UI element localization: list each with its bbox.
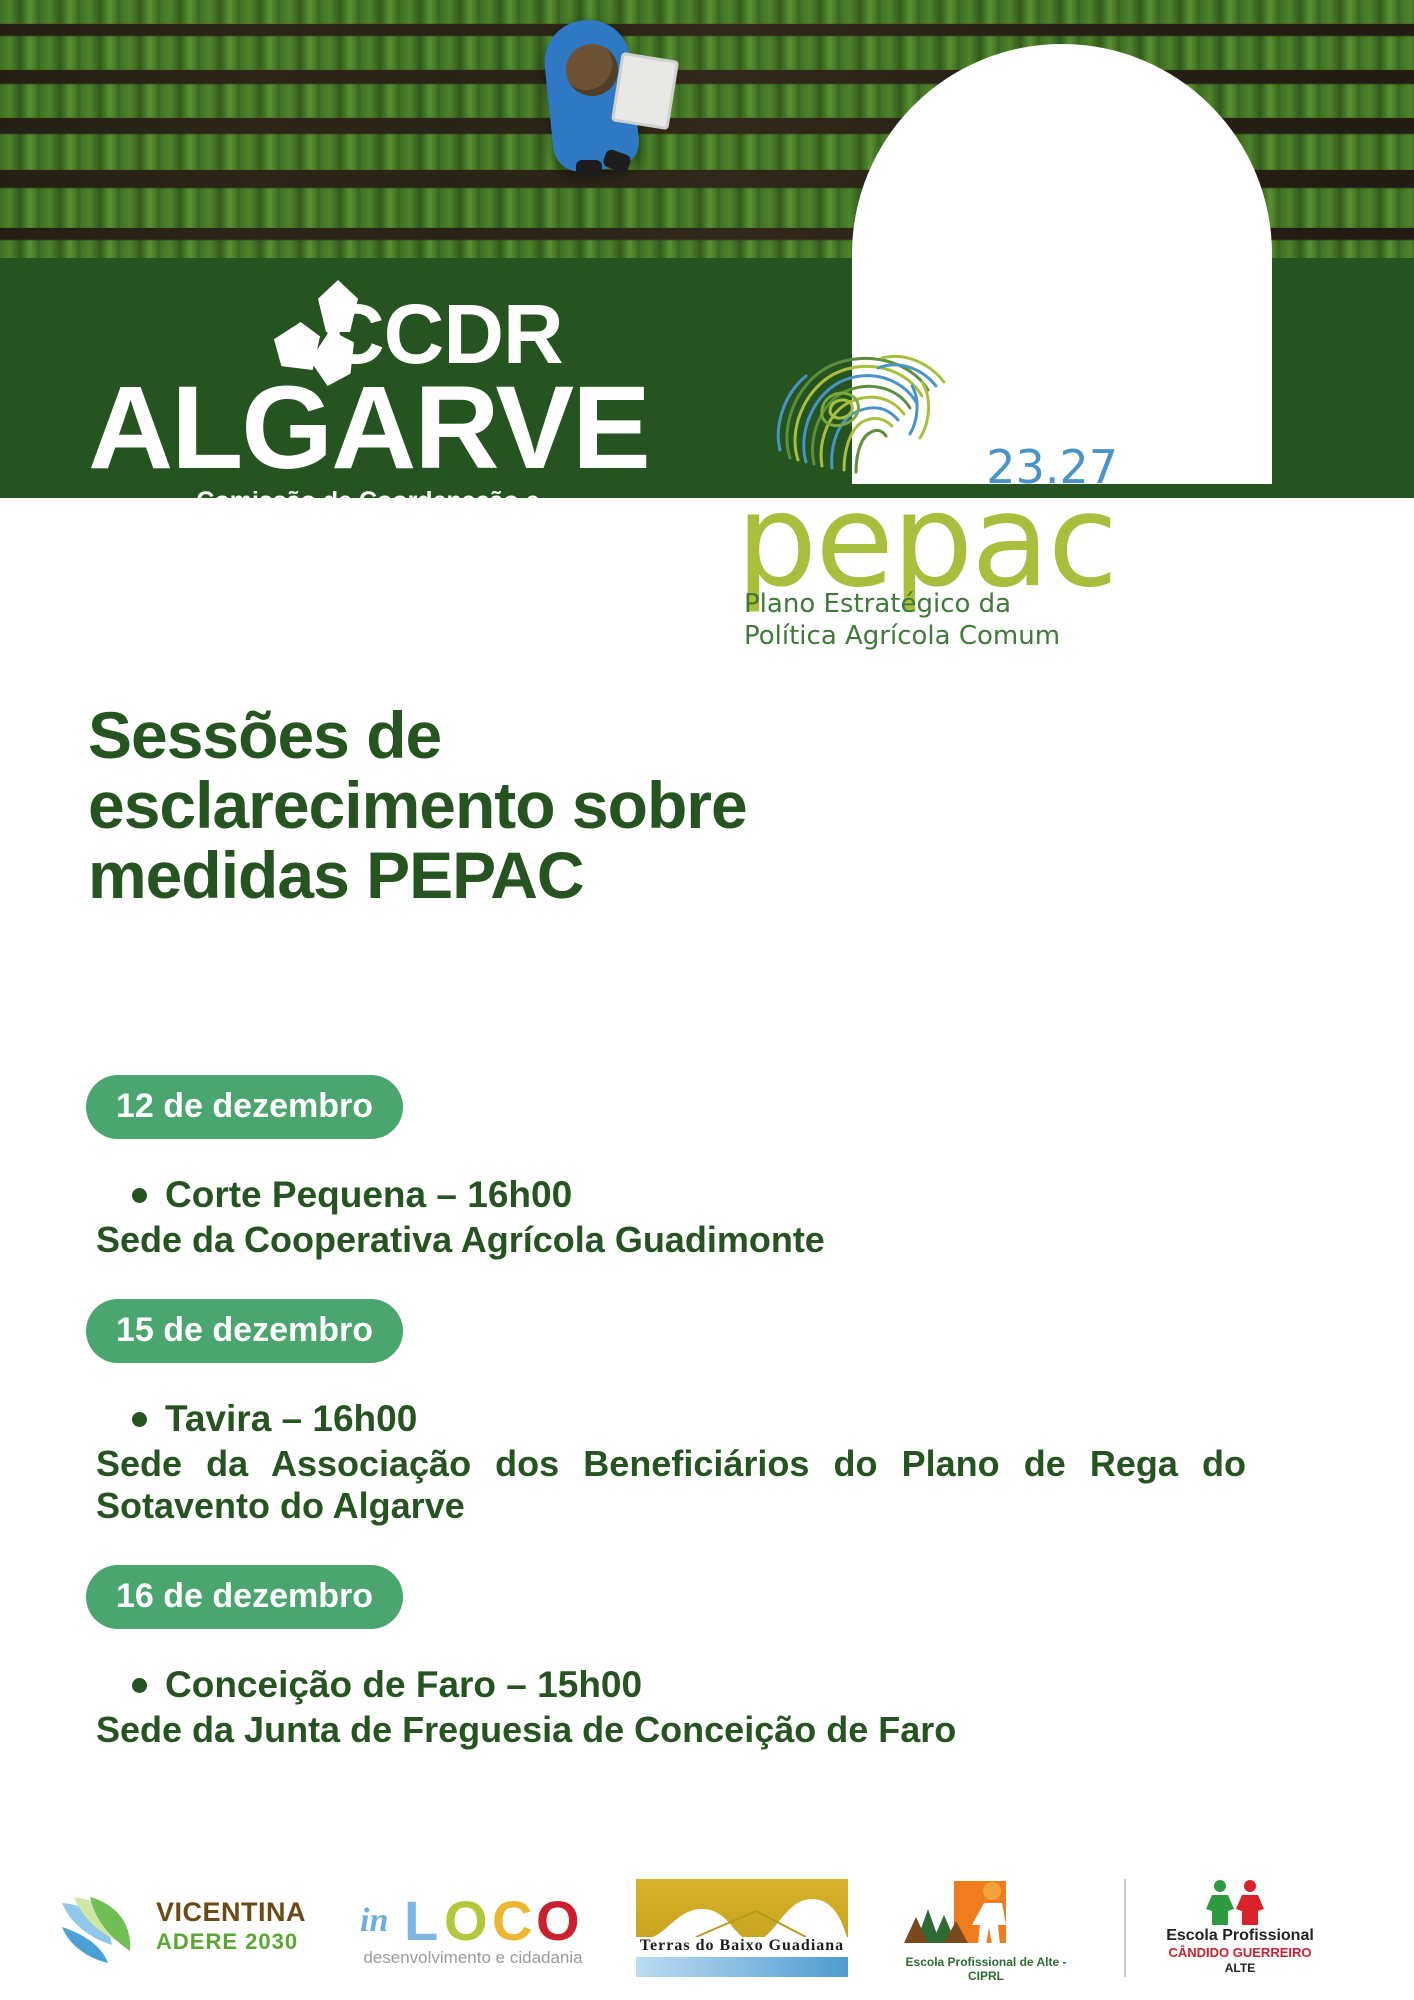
vicentina-sub: ADERE 2030 [156, 1929, 298, 1955]
alte-sub: Escola Profissional de Alte - CIPRL [896, 1955, 1076, 1983]
ccdr-subtitle: Comissão de Coordenação e Desenvolviment… [88, 486, 648, 546]
inloco-l: L [404, 1888, 438, 1953]
page-title: Sessões de esclarecimento sobre medidas … [88, 700, 868, 910]
pepac-wordmark: pepac [736, 478, 1116, 606]
event-title: Tavira – 16h00 [165, 1399, 417, 1439]
logo-in-loco: in L O C O desenvolvimento e cidadania [358, 1882, 588, 1974]
events-list: 12 de dezembro Corte Pequena – 16h00 Sed… [86, 1075, 1326, 1781]
tablet-icon [611, 52, 679, 130]
inloco-c: C [492, 1888, 532, 1953]
event-place: Sede da Cooperativa Agrícola Guadimonte [96, 1219, 1236, 1261]
logo-escola-alte: Escola Profissional de Alte - CIPRL [896, 1879, 1076, 1977]
alte-trees-walker-icon [896, 1879, 1076, 1957]
ccdr-acronym: CCDR [324, 292, 563, 376]
event-date-badge: 15 de dezembro [86, 1299, 403, 1363]
event-item: 16 de dezembro Conceição de Faro – 15h00… [86, 1565, 1326, 1751]
bullet-icon [132, 1188, 147, 1203]
inloco-in: in [360, 1902, 388, 1940]
inloco-o1: O [444, 1888, 488, 1953]
ccdr-subtitle-line-2: Desenvolvimento Regional do Algarve I.P. [88, 516, 648, 546]
bullet-icon [132, 1678, 147, 1693]
logo-candido-guerreiro: Escola Profissional CÂNDIDO GUERREIRO AL… [1124, 1879, 1354, 1977]
event-title: Conceição de Faro – 15h00 [165, 1665, 642, 1705]
event-place: Sede da Junta de Freguesia de Conceição … [96, 1709, 1236, 1751]
pepac-logo: 23.27 pepac Plano Estratégico da Polític… [720, 300, 1140, 650]
event-item: 15 de dezembro Tavira – 16h00 Sede da As… [86, 1299, 1326, 1527]
pepac-tagline-line-1: Plano Estratégico da [744, 588, 1060, 620]
cg-line-1: Escola Profissional [1144, 1927, 1336, 1945]
vicentina-name: VICENTINA [156, 1897, 306, 1928]
ccdr-region-wordmark: ALGARVE [88, 376, 728, 480]
pepac-tagline: Plano Estratégico da Política Agrícola C… [744, 588, 1060, 652]
event-date-badge: 12 de dezembro [86, 1075, 403, 1139]
cg-people-icon [1144, 1879, 1336, 1925]
logo-terras-baixo-guadiana: Terras do Baixo Guadiana [636, 1879, 848, 1977]
poster-root: CCDR ALGARVE Comissão de Coordenação e D… [0, 0, 1414, 2000]
event-item: 12 de dezembro Corte Pequena – 16h00 Sed… [86, 1075, 1326, 1261]
event-title-row: Corte Pequena – 16h00 [132, 1175, 1326, 1215]
ccdr-logo: CCDR ALGARVE Comissão de Coordenação e D… [88, 278, 728, 546]
inloco-o2: O [536, 1888, 580, 1953]
bullet-icon [132, 1412, 147, 1427]
vicentina-leaf-icon [60, 1895, 150, 1965]
cg-line-3: ALTE [1144, 1961, 1336, 1975]
event-place: Sede da Associação dos Beneficiários do … [96, 1443, 1246, 1527]
partner-logos: VICENTINA ADERE 2030 in L O C O desenvol… [0, 1868, 1414, 1988]
event-title-row: Tavira – 16h00 [132, 1399, 1326, 1439]
event-date-badge: 16 de dezembro [86, 1565, 403, 1629]
terras-label: Terras do Baixo Guadiana [636, 1937, 848, 1955]
cg-line-2: CÂNDIDO GUERREIRO [1144, 1945, 1336, 1960]
inloco-sub: desenvolvimento e cidadania [358, 1948, 588, 1968]
event-title-row: Conceição de Faro – 15h00 [132, 1665, 1326, 1705]
logo-vicentina: VICENTINA ADERE 2030 [60, 1885, 310, 1971]
farmer-figure [520, 0, 680, 185]
terras-hills-icon [636, 1897, 848, 1941]
event-title: Corte Pequena – 16h00 [165, 1175, 572, 1215]
pepac-tagline-line-2: Política Agrícola Comum [744, 620, 1060, 652]
